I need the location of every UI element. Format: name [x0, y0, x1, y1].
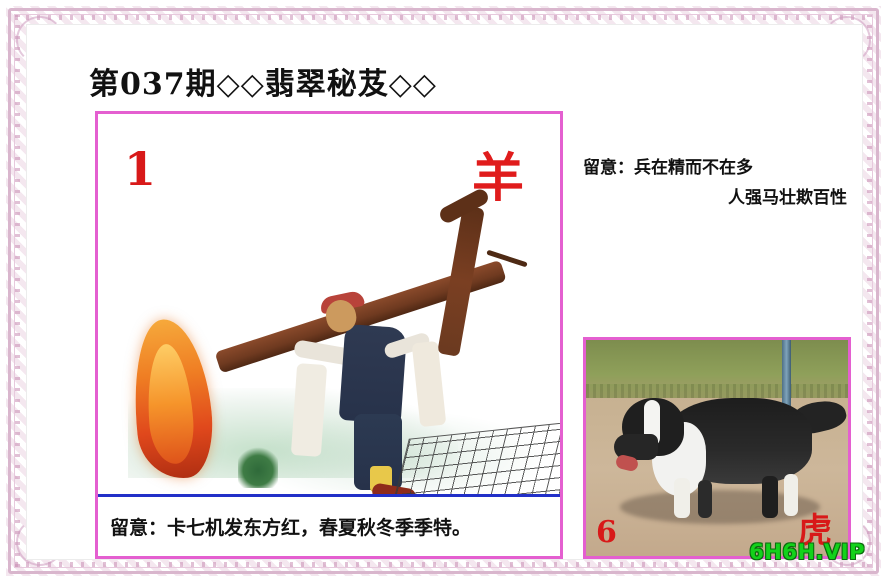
- dog-leg-front-right: [698, 480, 712, 518]
- dog-leg-front-left: [674, 478, 690, 518]
- photo-background-grass: [586, 340, 848, 398]
- photo-panel: 6 虎: [583, 337, 851, 559]
- page-title: 第037期◇◇翡翠秘芨◇◇: [89, 59, 437, 103]
- dog-leg-rear-left: [762, 476, 778, 518]
- poster-canvas: 第037期◇◇翡翠秘芨◇◇: [26, 24, 863, 560]
- side-note-line-2: 人强马壮欺百性: [583, 183, 851, 213]
- side-note-line-1: 留意：兵在精而不在多: [583, 158, 753, 178]
- main-number: 1: [124, 142, 156, 196]
- main-zodiac-character: 羊: [472, 136, 524, 211]
- poster-root: 第037期◇◇翡翠秘芨◇◇: [0, 0, 887, 582]
- shrub: [238, 444, 278, 488]
- photo-number: 6: [596, 515, 617, 550]
- main-caption-bar: 留意：卡七机发东方红，春夏秋冬季季特。: [98, 494, 560, 556]
- illustration-artwork: 1 羊: [98, 114, 560, 500]
- main-illustration-panel: 1 羊 留意：卡七机发东方红，春夏秋冬季季特。: [95, 111, 563, 559]
- main-caption-text: 留意：卡七机发东方红，春夏秋冬季季特。: [98, 513, 471, 540]
- watermark-text: 6H6H.VIP: [749, 540, 865, 564]
- dog-leg-rear-right: [784, 474, 798, 516]
- figure-torso: [339, 324, 408, 424]
- figure-cloth-left: [291, 363, 327, 457]
- side-note: 留意：兵在精而不在多 人强马壮欺百性: [583, 153, 851, 213]
